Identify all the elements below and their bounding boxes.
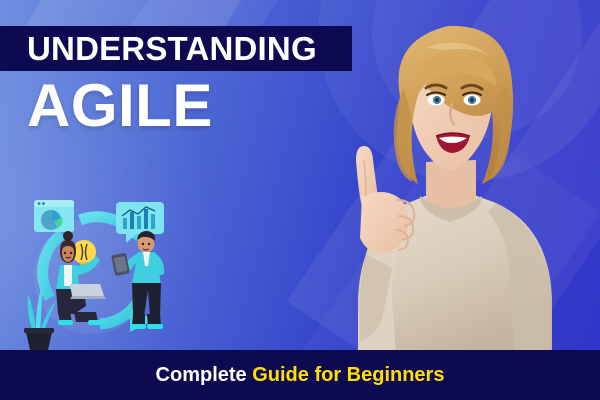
footer-bar: Complete Guide for Beginners (0, 350, 600, 400)
page-subtitle: AGILE (27, 76, 213, 136)
headline-title-bar: UNDERSTANDING (0, 26, 352, 71)
footer-text-white: Complete (156, 364, 247, 386)
agile-cycle-illustration (14, 190, 204, 355)
agile-course-banner: UNDERSTANDING AGILE (0, 0, 600, 400)
decorative-top-wedge-2 (131, 0, 298, 26)
pie-chart-window (34, 200, 74, 232)
page-title: UNDERSTANDING (0, 30, 317, 68)
footer-text-yellow: Guide for Beginners (252, 364, 444, 386)
